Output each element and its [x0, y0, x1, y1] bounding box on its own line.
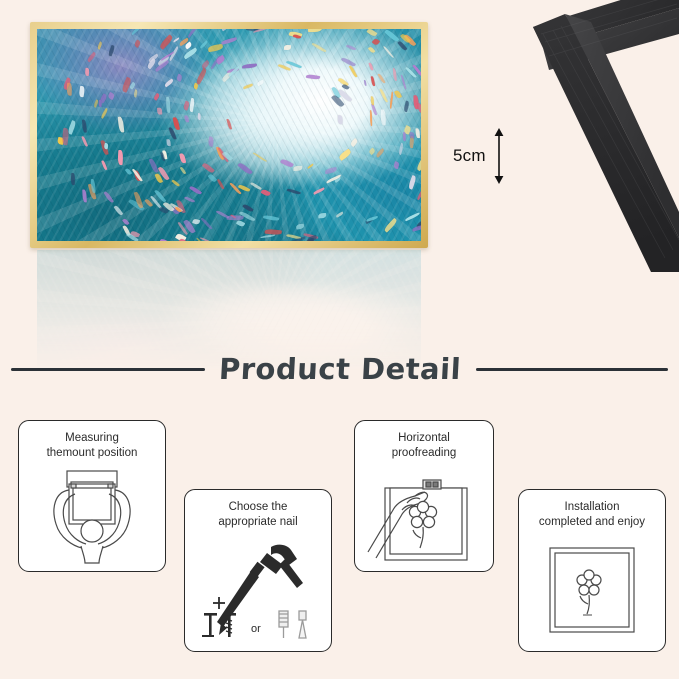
step-card-title: Choose the appropriate nail	[210, 490, 305, 529]
or-separator-label: or	[251, 623, 261, 635]
heading-rule-right	[476, 368, 668, 371]
framed-artwork[interactable]	[30, 22, 428, 248]
painting-brush-strokes	[37, 29, 421, 241]
black-frame-corner-sample	[487, 0, 679, 272]
step-card-title: Measuring themount position	[39, 421, 146, 460]
hand-leveling-frame-icon	[367, 470, 481, 562]
screws-icon	[279, 611, 306, 638]
step-card-illustration: or	[185, 529, 331, 651]
person-holding-frame-icon	[39, 468, 145, 564]
step-card-installation-complete[interactable]: Installation completed and enjoy	[518, 489, 666, 652]
step-card-illustration	[19, 460, 165, 571]
frame-depth-dimension: 5cm	[453, 128, 506, 184]
section-heading: Product Detail	[0, 348, 679, 390]
page-title: Product Detail	[219, 352, 463, 386]
step-card-title: Installation completed and enjoy	[531, 490, 653, 529]
nails-icon	[202, 613, 236, 637]
step-card-measuring[interactable]: Measuring themount position	[18, 420, 166, 572]
step-card-illustration	[519, 529, 665, 651]
step-card-horizontal-proofreading[interactable]: Horizontal proofreading	[354, 420, 494, 572]
step-card-illustration	[355, 460, 493, 571]
product-detail-page: 5cm Product Detail Measuring themount po…	[0, 0, 679, 679]
hung-frame-with-flower-icon	[544, 542, 640, 638]
painting-canvas	[37, 29, 421, 241]
plus-mark-icon	[213, 597, 225, 609]
step-card-title: Horizontal proofreading	[384, 421, 465, 460]
dimension-label: 5cm	[453, 146, 486, 166]
vertical-double-arrow-icon	[492, 128, 506, 184]
step-card-choose-nail[interactable]: Choose the appropriate nail	[184, 489, 332, 652]
heading-rule-left	[11, 368, 205, 371]
